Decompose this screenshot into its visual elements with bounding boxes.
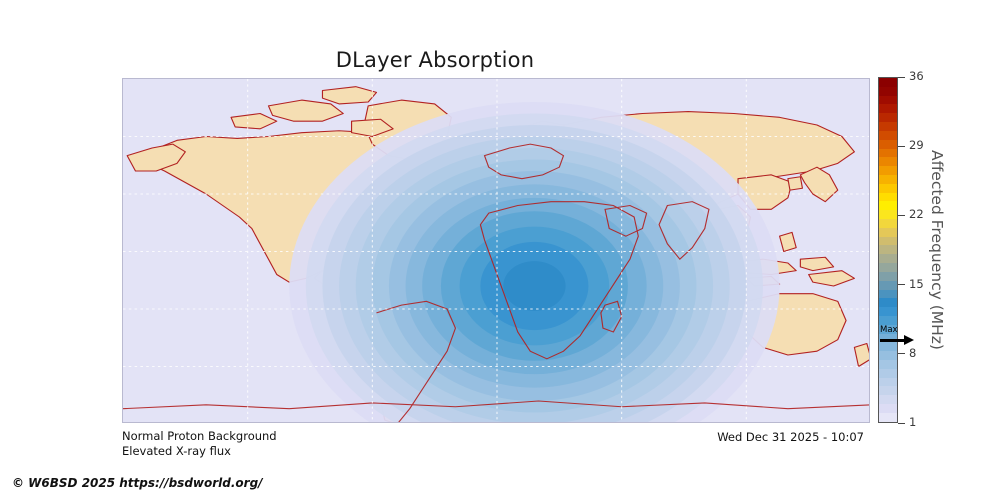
colorbar-segment: [879, 316, 897, 325]
colorbar[interactable]: [878, 77, 898, 423]
colorbar-segment: [879, 193, 897, 202]
dlayer-absorption-map-page: DLayer Absorption: [0, 0, 1000, 500]
colorbar-segment: [879, 404, 897, 413]
colorbar-segment: [879, 378, 897, 387]
colorbar-segment: [879, 228, 897, 237]
colorbar-segment: [879, 413, 897, 422]
colorbar-segment: [879, 201, 897, 210]
colorbar-segment: [879, 254, 897, 263]
colorbar-segment: [879, 263, 897, 272]
copyright-notice: © W6BSD 2025 https://bsdworld.org/: [12, 476, 263, 490]
colorbar-segment: [879, 184, 897, 193]
colorbar-segment: [879, 157, 897, 166]
map-canvas: [123, 79, 870, 423]
max-marker-label: Max: [880, 325, 898, 335]
colorbar-segment: [879, 360, 897, 369]
colorbar-segment: [879, 290, 897, 299]
colorbar-segment: [879, 140, 897, 149]
colorbar-segment: [879, 210, 897, 219]
note-line-2: Elevated X-ray flux: [122, 444, 277, 459]
max-marker: Max: [879, 325, 925, 351]
colorbar-segment: [879, 245, 897, 254]
colorbar-segment: [879, 281, 897, 290]
colorbar-tick-label: 29: [909, 138, 924, 152]
colorbar-segment: [879, 149, 897, 158]
colorbar-axis-label: Affected Frequency (MHz): [926, 77, 948, 423]
colorbar-segment: [879, 307, 897, 316]
colorbar-segment: [879, 166, 897, 175]
colorbar-segment: [879, 298, 897, 307]
max-arrow-icon: [880, 338, 916, 342]
colorbar-segment: [879, 386, 897, 395]
colorbar-segment: [879, 96, 897, 105]
colorbar-tick-label: 22: [909, 207, 924, 221]
colorbar-segment: [879, 122, 897, 131]
colorbar-segment: [879, 175, 897, 184]
world-map[interactable]: [122, 78, 870, 423]
colorbar-segment: [879, 113, 897, 122]
colorbar-segment: [879, 78, 897, 87]
colorbar-tick-label: 1: [909, 415, 916, 429]
colorbar-segment: [879, 219, 897, 228]
colorbar-segment: [879, 131, 897, 140]
colorbar-segment: [879, 369, 897, 378]
colorbar-segment: [879, 237, 897, 246]
colorbar-tick-label: 15: [909, 277, 924, 291]
colorbar-segment: [879, 272, 897, 281]
colorbar-segment: [879, 351, 897, 360]
colorbar-tick-label: 36: [909, 69, 924, 83]
page-title: DLayer Absorption: [0, 48, 870, 72]
colorbar-segment: [879, 395, 897, 404]
timestamp: Wed Dec 31 2025 - 10:07: [0, 430, 870, 444]
colorbar-segment: [879, 104, 897, 113]
colorbar-segment: [879, 87, 897, 96]
